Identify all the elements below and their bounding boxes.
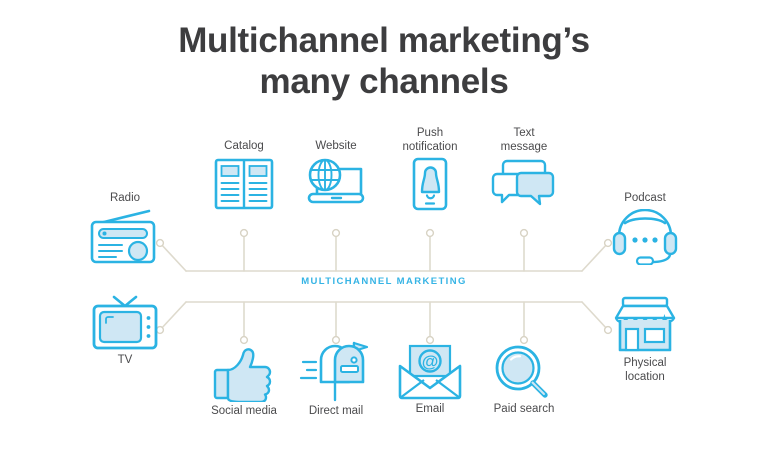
channel-label-radio: Radio [78,192,172,206]
channel-label-physical-location: Physical location [598,357,692,384]
television-icon [89,295,161,351]
envelope-at-icon: @ [397,344,463,400]
channel-node-social-media[interactable]: Social media [197,346,291,419]
channel-node-website[interactable]: Website [289,140,383,211]
text-pin [521,230,528,237]
social-pin [241,337,248,344]
magnifying-glass-icon [493,344,555,400]
channel-label-podcast: Podcast [598,192,692,206]
headset-icon [610,209,680,265]
mailbox-icon [299,340,373,402]
center-label: MULTICHANNEL MARKETING [0,276,768,287]
channel-node-push-notification[interactable]: Push notification [383,127,477,211]
thumbs-up-icon [213,346,275,402]
globe-laptop-icon [303,157,369,211]
channel-label-website: Website [289,140,383,154]
catalog-pin [241,230,248,237]
channel-label-paid-search: Paid search [477,403,571,417]
storefront-icon [610,296,680,354]
website-pin [333,230,340,237]
channel-node-paid-search[interactable]: Paid search [477,344,571,417]
infographic-canvas: Multichannel marketing’s many channels [0,0,768,473]
email-pin [427,337,434,344]
speech-bubbles-icon [491,157,557,211]
channel-label-tv: TV [78,354,172,368]
channel-node-tv[interactable]: TV [78,295,172,368]
channel-node-physical-location[interactable]: Physical location [598,296,692,384]
channel-label-catalog: Catalog [197,140,291,154]
channel-label-text-message: Text message [477,127,571,154]
radio-icon [86,209,164,265]
channel-label-email: Email [383,403,477,417]
search-pin [521,337,528,344]
phone-bell-icon [406,157,454,211]
channel-node-radio[interactable]: Radio [78,192,172,265]
channel-node-direct-mail[interactable]: Direct mail [289,340,383,419]
channel-label-social-media: Social media [197,405,291,419]
channel-node-email[interactable]: @ Email [383,344,477,417]
svg-text:@: @ [422,352,439,371]
channel-node-text-message[interactable]: Text message [477,127,571,211]
channel-label-push-notification: Push notification [383,127,477,154]
catalog-book-icon [213,157,275,211]
channel-node-catalog[interactable]: Catalog [197,140,291,211]
channel-label-direct-mail: Direct mail [289,405,383,419]
channel-node-podcast[interactable]: Podcast [598,192,692,265]
push-pin [427,230,434,237]
